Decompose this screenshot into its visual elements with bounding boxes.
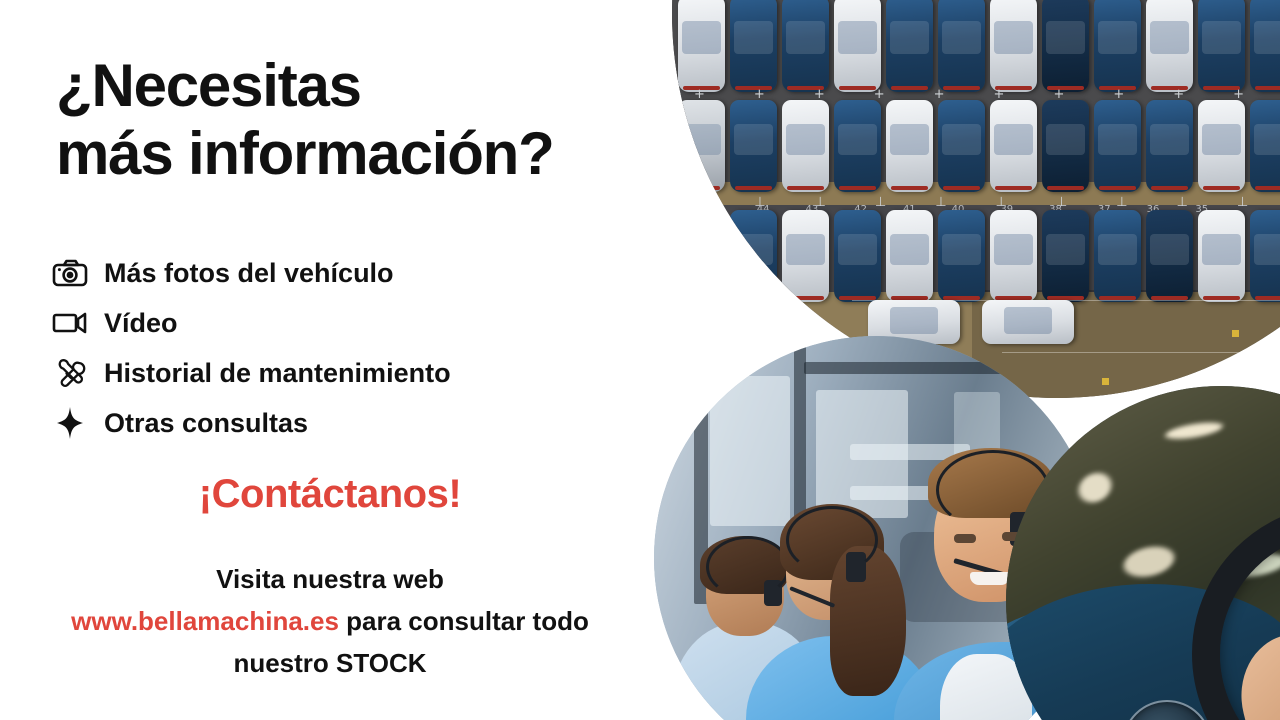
headline-line-2: más información? — [56, 120, 696, 188]
dashboard — [1006, 584, 1280, 720]
web-line-1: Visita nuestra web — [0, 558, 660, 600]
car-row — [868, 300, 1074, 344]
windshield-view — [1006, 386, 1280, 674]
list-item-label: Vídeo — [104, 308, 178, 338]
promo-banner: +++++ +++++ +++ — [0, 0, 1280, 720]
driver-hand — [1228, 619, 1280, 720]
list-item-label: Historial de mantenimiento — [104, 358, 451, 388]
call-centre-agents-photo — [654, 336, 1098, 720]
list-item: Vídeo — [50, 298, 670, 348]
page-title: ¿Necesitas más información? — [56, 52, 696, 188]
cta-text: ¡Contáctanos! — [0, 470, 660, 518]
lot-ground — [672, 0, 1280, 398]
list-item: Más fotos del vehículo — [50, 248, 670, 298]
lot-markers: ⊥⊥⊥⊥ ⊥⊥⊥⊥ ⊥⊥⊥⊥ ⊥ — [672, 196, 1280, 210]
lot-markers: +++++ +++++ +++ — [672, 88, 1280, 102]
list-item: Historial de mantenimiento — [50, 348, 670, 398]
feature-list: Más fotos del vehículo Vídeo — [50, 248, 670, 448]
wrench-tools-icon — [50, 356, 90, 390]
car-row — [672, 210, 1280, 302]
text-column: ¿Necesitas más información? Más fotos de… — [0, 0, 700, 720]
list-item: Otras consultas — [50, 398, 670, 448]
web-info-block: Visita nuestra web www.bellamachina.es p… — [0, 558, 660, 684]
speedometer-gauge — [1122, 700, 1212, 720]
website-url[interactable]: www.bellamachina.es — [71, 606, 339, 636]
aerial-car-lot-photo: +++++ +++++ +++ — [672, 0, 1280, 398]
car-row — [672, 0, 1280, 92]
list-item-label: Más fotos del vehículo — [104, 258, 394, 288]
lot-bay-numbers: 4544434241 4039383736 35 — [672, 204, 1280, 216]
driving-interior-photo — [1006, 386, 1280, 720]
car-row — [672, 100, 1280, 192]
web-line-3: nuestro STOCK — [0, 642, 660, 684]
lot-shadow — [972, 290, 1280, 398]
sparkle-star-icon — [50, 406, 90, 440]
list-item-label: Otras consultas — [104, 408, 308, 438]
video-camera-icon — [50, 306, 90, 340]
headline-line-1: ¿Necesitas — [56, 52, 361, 119]
camera-icon — [50, 256, 90, 290]
steering-wheel — [1192, 504, 1280, 720]
web-line-2-rest: para consultar todo — [339, 606, 589, 636]
